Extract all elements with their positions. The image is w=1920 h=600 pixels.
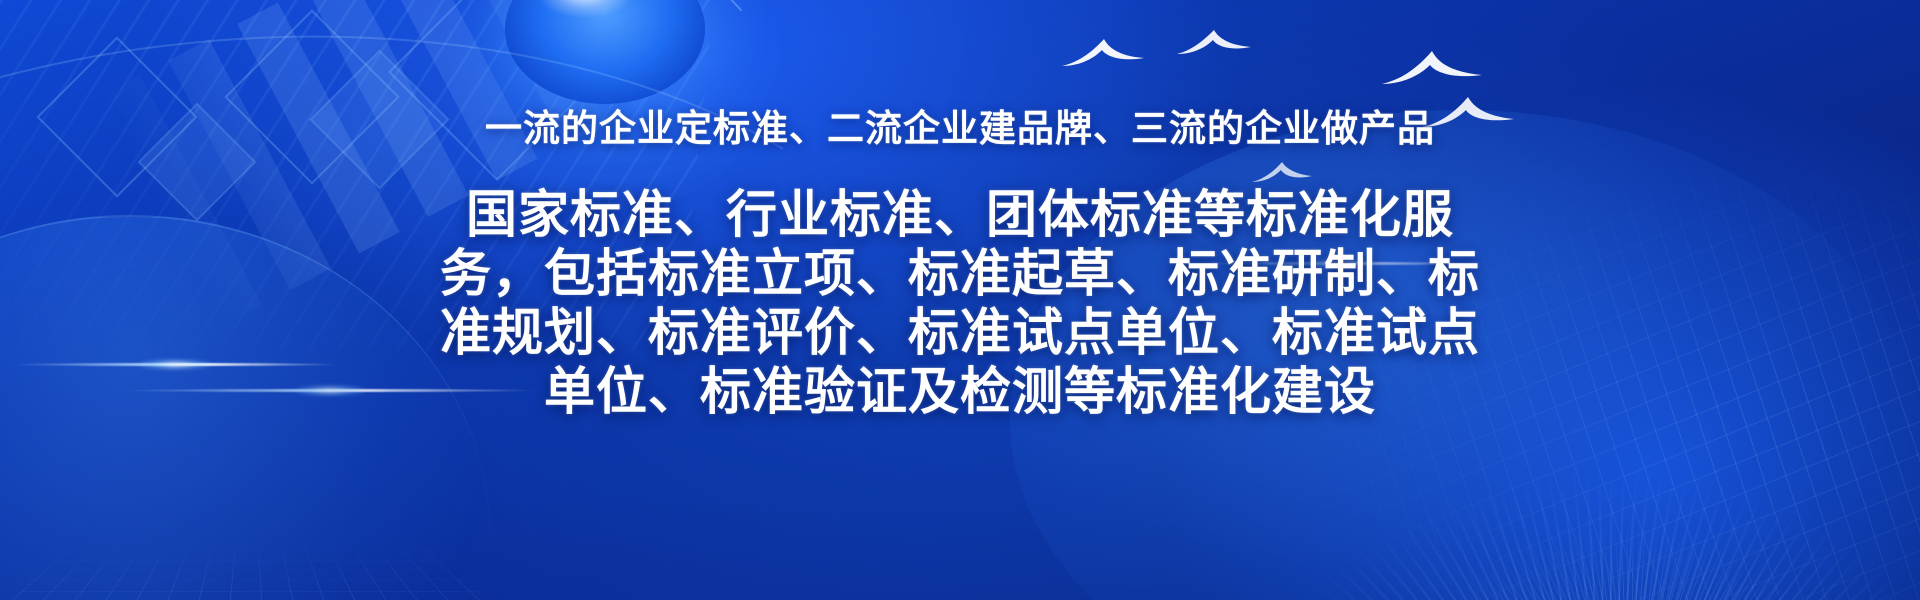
banner-content: 一流的企业定标准、二流企业建品牌、三流的企业做产品 国家标准、行业标准、团体标准… [0,0,1920,600]
hero-banner: 一流的企业定标准、二流企业建品牌、三流的企业做产品 国家标准、行业标准、团体标准… [0,0,1920,600]
banner-headline: 一流的企业定标准、二流企业建品牌、三流的企业做产品 [485,110,1435,147]
banner-body-text: 国家标准、行业标准、团体标准等标准化服务，包括标准立项、标准起草、标准研制、标准… [435,185,1485,422]
